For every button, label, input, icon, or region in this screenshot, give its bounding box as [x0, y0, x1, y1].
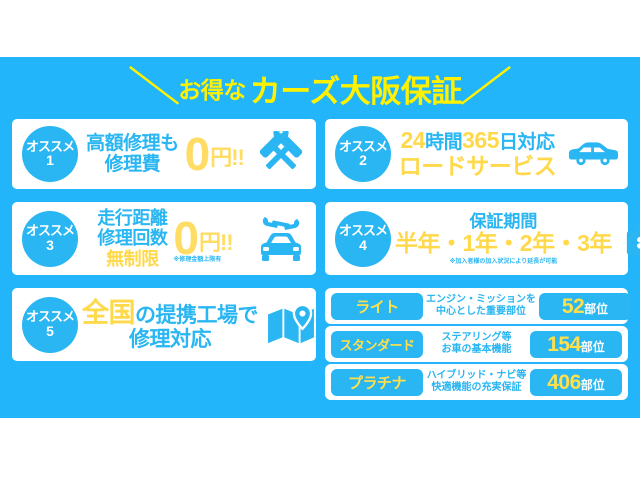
card-3-text: 走行距離 修理回数 無制限 [97, 208, 167, 268]
plan-desc-light-line1: エンジン・ミッションを [426, 294, 536, 306]
plan-count-platinum-number: 406 [547, 369, 581, 396]
plan-name-standard: スタンダード [331, 331, 423, 358]
feature-card-4-body: 保証期間 半年・1年・2年・3年 ※加入者様の加入状況により延長が可能 [391, 202, 616, 275]
plan-desc-platinum-line2: 快適機能の充実保証 [426, 382, 527, 394]
badge-5-number: 5 [46, 324, 54, 339]
feature-card-5-body: 全国の提携工場で 修理対応 [78, 288, 262, 361]
card-2-line1: 24時間365日対応 [399, 128, 557, 154]
card-2-days: 365 [462, 127, 499, 153]
badge-3-label: オススメ [26, 224, 74, 238]
badge-4: オススメ 4 [335, 211, 391, 267]
badge-1-label: オススメ [26, 140, 74, 154]
plan-count-light-unit: 部位 [584, 296, 608, 323]
plan-count-standard-unit: 部位 [581, 334, 605, 361]
title-slash-right: ／ [458, 68, 511, 108]
plan-count-standard: 154 部位 [530, 331, 622, 358]
card-4-note: ※加入者様の加入状況により延長が可能 [395, 259, 612, 266]
badge-2-label: オススメ [339, 140, 387, 154]
badge-5-label: オススメ [26, 310, 74, 324]
card-2-line2: ロードサービス [399, 154, 557, 180]
card-3-line1: 走行距離 [97, 208, 167, 228]
plan-count-light-number: 52 [562, 293, 584, 320]
feature-card-1-body: 高額修理も 修理費 0 円!! [78, 119, 252, 189]
card-2-hours: 24 [401, 127, 426, 153]
title-main: カーズ大阪保証 [250, 66, 462, 111]
warranty-poster: ＼ お得な カーズ大阪保証 ／ オススメ 1 高額修理も 修理費 0 円!! [0, 0, 640, 480]
title-slash-left: ＼ [129, 68, 182, 108]
plan-count-standard-number: 154 [547, 331, 581, 358]
plan-count-platinum: 406 部位 [530, 369, 622, 396]
card-3-line3: 無制限 [97, 249, 167, 269]
plan-row-platinum[interactable]: プラチナ ハイブリッド・ナビ等 快適機能の充実保証 406 部位 [325, 364, 628, 400]
feature-card-4: オススメ 4 保証期間 半年・1年・2年・3年 ※加入者様の加入状況により延長が… [325, 202, 628, 275]
first-aid-kit-icon [616, 218, 640, 260]
card-5-line1-rest: の提携工場で [135, 304, 258, 327]
plan-name-light: ライト [331, 293, 423, 320]
plan-name-platinum: プラチナ [331, 369, 423, 396]
crossed-hammers-icon [252, 131, 310, 177]
feature-card-3-body: 走行距離 修理回数 無制限 0 円!! ※修理金額上限有 [78, 202, 252, 275]
card-1-amount-number: 0 [185, 134, 211, 174]
plan-desc-platinum-line1: ハイブリッド・ナビ等 [426, 370, 527, 382]
plan-desc-standard: ステアリング等 お車の基本機能 [423, 332, 530, 356]
card-2-text: 24時間365日対応 ロードサービス [399, 128, 557, 180]
plan-desc-light: エンジン・ミッションを 中心とした重要部位 [423, 294, 539, 318]
plan-count-platinum-unit: 部位 [581, 372, 605, 399]
plan-desc-standard-line2: お車の基本機能 [426, 344, 527, 356]
plan-row-light[interactable]: ライト エンジン・ミッションを 中心とした重要部位 52 部位 [325, 288, 628, 324]
badge-1: オススメ 1 [22, 126, 78, 182]
card-4-line2: 半年・1年・2年・3年 [395, 231, 612, 257]
card-1-amount: 0 円!! [185, 134, 244, 174]
badge-2: オススメ 2 [335, 126, 391, 182]
card-3-amount: 0 円!! ※修理金額上限有 [173, 218, 232, 258]
plan-desc-platinum: ハイブリッド・ナビ等 快適機能の充実保証 [423, 370, 530, 394]
card-2-hours-unit: 時間 [425, 132, 462, 153]
poster-title: ＼ お得な カーズ大阪保証 ／ [0, 62, 640, 114]
feature-card-2: オススメ 2 24時間365日対応 ロードサービス [325, 119, 628, 189]
feature-card-3: オススメ 3 走行距離 修理回数 無制限 0 円!! ※修理金額上限有 [12, 202, 316, 275]
map-pin-icon [262, 303, 320, 347]
card-5-line1: 全国の提携工場で [82, 298, 258, 328]
badge-3: オススメ 3 [22, 211, 78, 267]
card-4-line1: 保証期間 [395, 212, 612, 231]
title-prefix: お得な [178, 71, 246, 105]
card-2-days-unit: 日対応 [499, 132, 555, 153]
card-4-text: 保証期間 半年・1年・2年・3年 ※加入者様の加入状況により延長が可能 [395, 212, 612, 266]
card-1-text: 高額修理も 修理費 [86, 133, 179, 176]
plan-desc-standard-line1: ステアリング等 [426, 332, 527, 344]
feature-card-2-body: 24時間365日対応 ロードサービス [391, 119, 564, 189]
card-5-text: 全国の提携工場で 修理対応 [82, 298, 258, 352]
feature-card-5: オススメ 5 全国の提携工場で 修理対応 [12, 288, 316, 361]
badge-4-number: 4 [359, 238, 367, 253]
feature-card-1: オススメ 1 高額修理も 修理費 0 円!! [12, 119, 316, 189]
card-5-nationwide: 全国 [82, 298, 135, 328]
badge-2-number: 2 [359, 153, 367, 168]
card-1-amount-unit: 円!! [210, 141, 244, 174]
badge-5: オススメ 5 [22, 297, 78, 353]
card-3-amount-number: 0 [173, 218, 199, 258]
card-1-line2: 修理費 [86, 154, 179, 175]
card-3-note: ※修理金額上限有 [173, 254, 221, 263]
card-5-line2: 修理対応 [82, 328, 258, 352]
plan-desc-light-line2: 中心とした重要部位 [426, 306, 536, 318]
car-side-icon [564, 138, 622, 170]
badge-4-label: オススメ [339, 224, 387, 238]
wrench-car-icon [252, 213, 310, 265]
badge-3-number: 3 [46, 238, 54, 253]
plan-count-light: 52 部位 [539, 293, 631, 320]
card-3-line2: 修理回数 [97, 228, 167, 248]
badge-1-number: 1 [46, 153, 54, 168]
plan-row-standard[interactable]: スタンダード ステアリング等 お車の基本機能 154 部位 [325, 326, 628, 362]
card-1-line1: 高額修理も [86, 133, 179, 154]
